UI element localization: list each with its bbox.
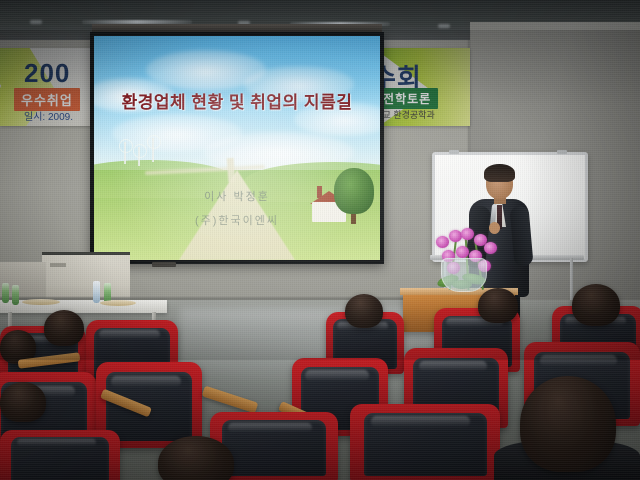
ceiling-light-dot (438, 24, 450, 28)
auditorium-seat (350, 404, 500, 480)
seat-highlight (17, 439, 96, 446)
scene-ambient-shading (0, 30, 640, 360)
photo-scene: 200 수회 우수취업 공전학토론 일시: 2009. 대학교 환경공학과 (0, 0, 640, 480)
seat-highlight (305, 370, 368, 380)
seat-highlight (419, 361, 488, 371)
audience-head-foreground (520, 376, 616, 472)
audience-head (0, 382, 46, 422)
ceiling-light-dot (30, 20, 42, 24)
seat-highlight (228, 423, 312, 432)
auditorium-seat (0, 430, 120, 480)
seat-highlight (111, 376, 181, 387)
seat-highlight (371, 416, 470, 426)
